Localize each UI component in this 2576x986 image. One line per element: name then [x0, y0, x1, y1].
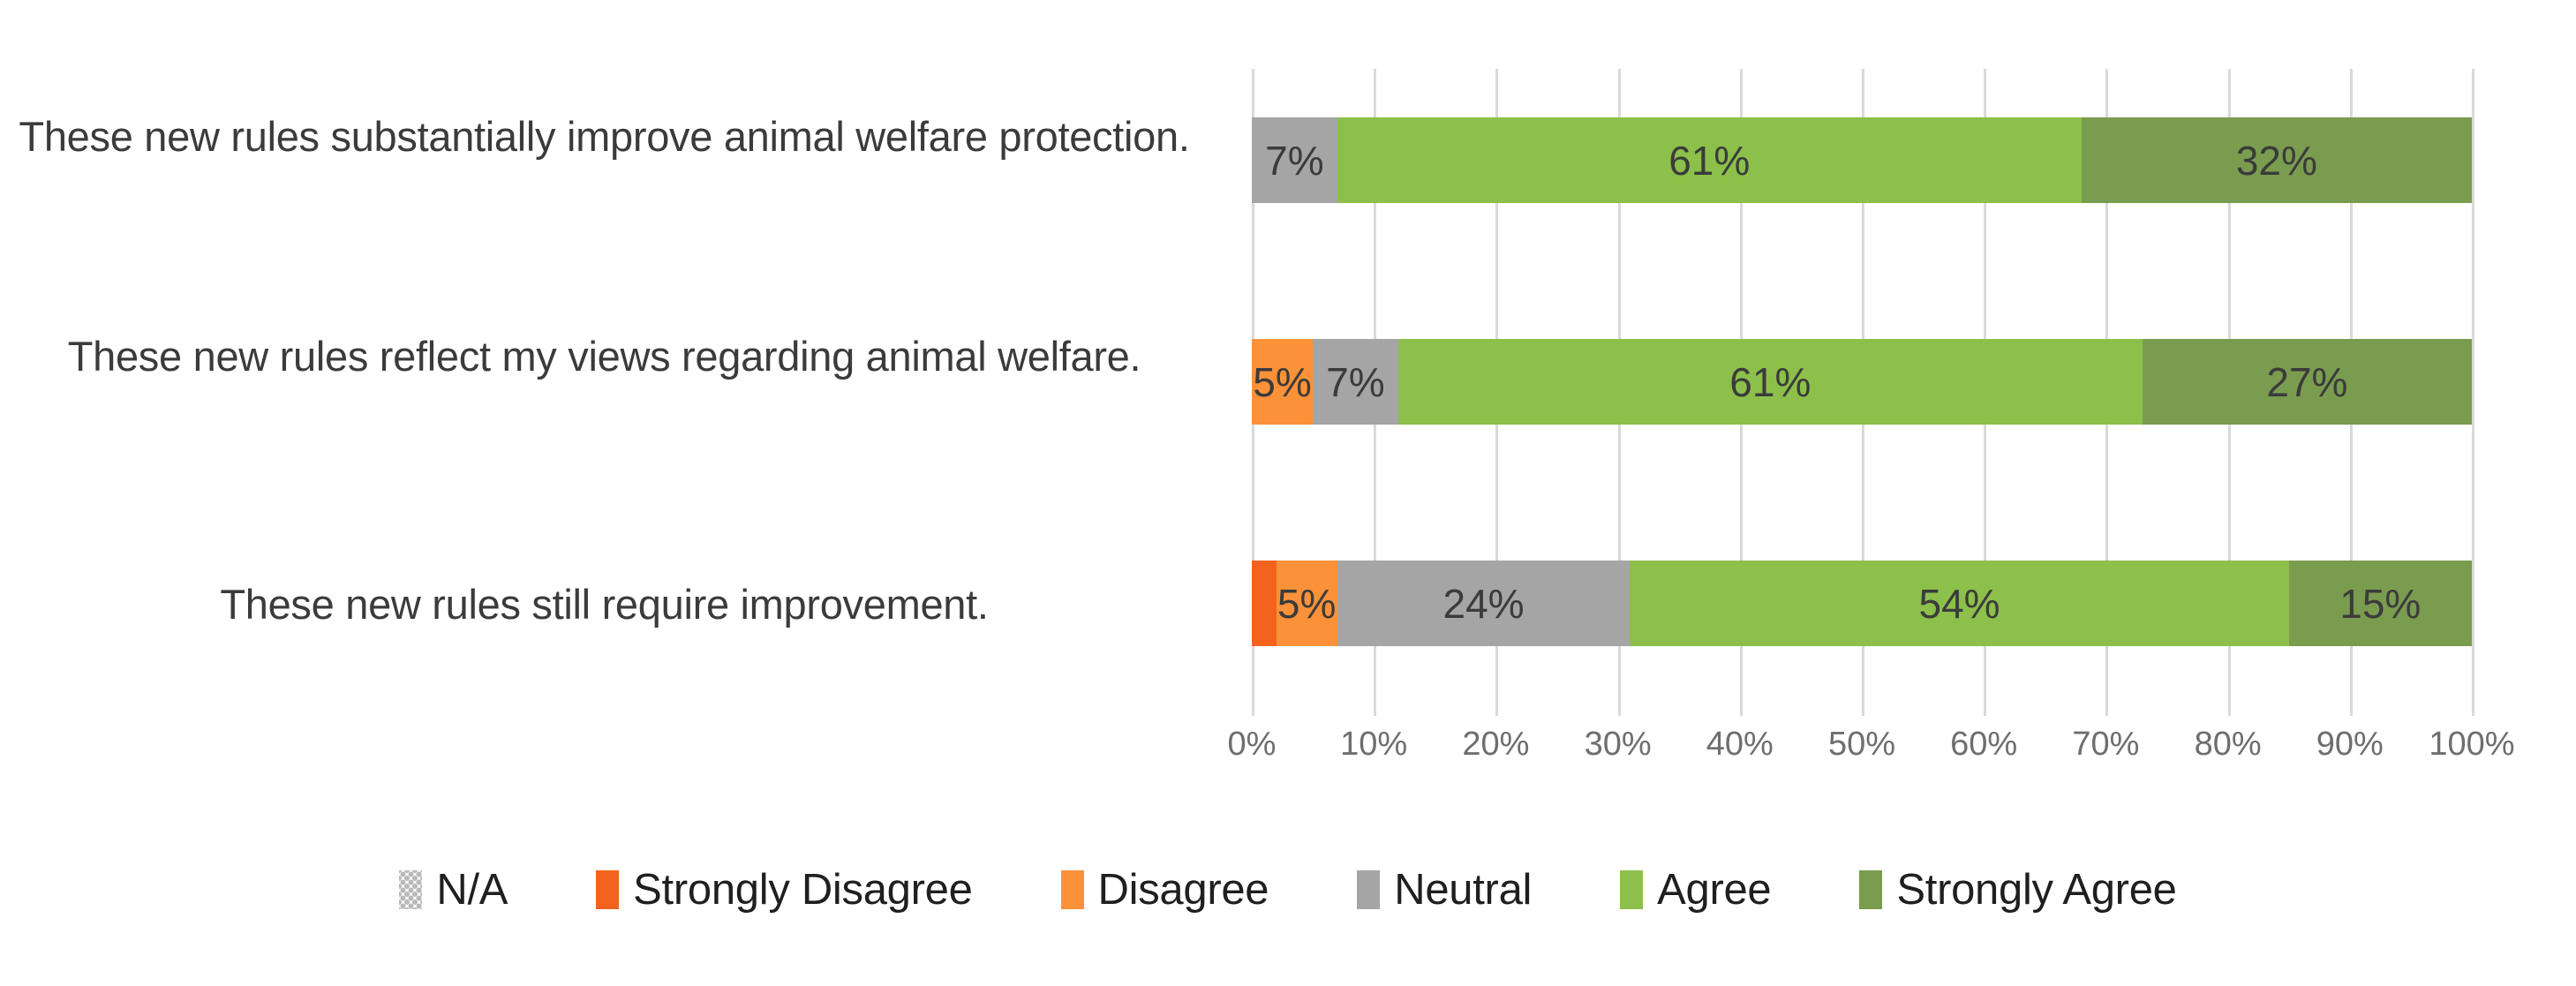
bar-row: 5%7%61%27%	[1252, 339, 2472, 425]
x-tick-label: 70%	[2072, 726, 2139, 764]
bar-row: 5%24%54%15%	[1252, 561, 2472, 646]
legend-swatch-icon	[1859, 870, 1882, 909]
legend-item[interactable]: Agree	[1620, 865, 1771, 914]
x-tick-label: 40%	[1706, 726, 1774, 764]
legend-item[interactable]: Disagree	[1061, 865, 1269, 914]
bar-segment-value-label: 15%	[2339, 580, 2421, 628]
x-tick-label: 50%	[1828, 726, 1895, 764]
legend-label: Agree	[1657, 865, 1771, 914]
legend-swatch-icon	[399, 870, 422, 909]
x-tick-label: 30%	[1585, 726, 1652, 764]
bar-segment: 61%	[1398, 339, 2143, 425]
legend-item[interactable]: Strongly Disagree	[596, 865, 972, 914]
x-tick-label: 20%	[1462, 726, 1529, 764]
bar-segment: 27%	[2143, 339, 2472, 425]
legend-swatch-icon	[1357, 870, 1380, 909]
legend-item[interactable]: N/A	[399, 865, 508, 914]
bar-segment: 32%	[2082, 117, 2472, 203]
legend-swatch-icon	[1620, 870, 1643, 909]
x-tick-label: 80%	[2195, 726, 2262, 764]
gridline	[2472, 69, 2474, 716]
legend-swatch-icon	[1061, 870, 1084, 909]
stacked-bar-chart: These new rules substantially improve an…	[0, 0, 2576, 986]
x-tick-label: 100%	[2429, 726, 2514, 764]
legend-item[interactable]: Strongly Agree	[1859, 865, 2176, 914]
bar-segment: 61%	[1337, 117, 2082, 203]
x-tick-label: 90%	[2316, 726, 2384, 764]
bar-segment-value-label: 5%	[1277, 580, 1336, 628]
x-tick-label: 0%	[1228, 726, 1277, 764]
bar-segment-value-label: 27%	[2266, 358, 2347, 406]
bar-row: 7%61%32%	[1252, 117, 2472, 203]
category-label-2: These new rules still require improvemen…	[6, 579, 1202, 629]
legend-swatch-icon	[596, 870, 619, 909]
bar-segment: 5%	[1252, 339, 1313, 425]
bar-segment: 7%	[1252, 117, 1337, 203]
bar-segment: 15%	[2289, 561, 2472, 646]
bar-segment: 54%	[1630, 561, 2288, 646]
category-axis-labels: These new rules substantially improve an…	[0, 69, 1227, 716]
bar-segment: 24%	[1337, 561, 1631, 646]
bar-segment-value-label: 61%	[1729, 358, 1811, 406]
legend-label: Neutral	[1394, 865, 1532, 914]
bar-segment-value-label: 24%	[1443, 580, 1525, 628]
bar-segment-value-label: 5%	[1253, 358, 1311, 406]
bar-segment-value-label: 61%	[1668, 137, 1750, 184]
legend-label: N/A	[436, 865, 508, 914]
category-label-1: These new rules reflect my views regardi…	[6, 331, 1202, 381]
x-axis-tick-labels: 0%10%20%30%40%50%60%70%80%90%100%	[1252, 726, 2472, 779]
legend-label: Disagree	[1098, 865, 1269, 914]
x-tick-label: 60%	[1950, 726, 2017, 764]
bar-segment-value-label: 32%	[2236, 137, 2317, 184]
chart-legend: N/AStrongly DisagreeDisagreeNeutralAgree…	[0, 865, 2576, 914]
bar-segment	[1252, 561, 1277, 646]
x-tick-label: 10%	[1340, 726, 1407, 764]
bar-segment-value-label: 54%	[1918, 580, 2000, 628]
plot-area: 7%61%32% 5%7%61%27% 5%24%54%15%	[1252, 69, 2472, 716]
category-label-0: These new rules substantially improve an…	[6, 111, 1202, 162]
bar-segment: 5%	[1277, 561, 1337, 646]
legend-label: Strongly Disagree	[633, 865, 972, 914]
bar-segment-value-label: 7%	[1326, 358, 1384, 406]
bar-segment: 7%	[1313, 339, 1398, 425]
legend-item[interactable]: Neutral	[1357, 865, 1532, 914]
bar-segment-value-label: 7%	[1265, 137, 1323, 184]
legend-label: Strongly Agree	[1896, 865, 2176, 914]
